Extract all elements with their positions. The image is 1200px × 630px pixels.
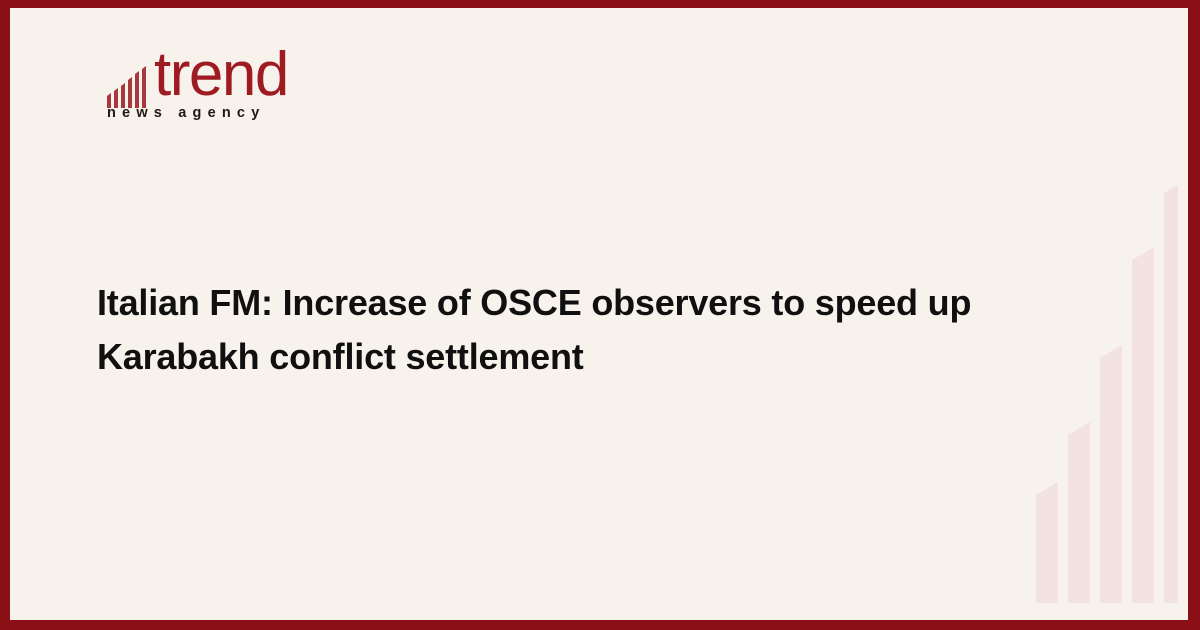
deco-bar-1	[1036, 482, 1058, 603]
decorative-ascending-bars	[1026, 8, 1178, 603]
deco-bar-5	[1164, 185, 1178, 603]
headline: Italian FM: Increase of OSCE observers t…	[97, 276, 1027, 384]
headline-line-1: Italian FM: Increase of OSCE observers t…	[97, 276, 1027, 330]
deco-bar-4	[1132, 247, 1154, 603]
share-card: trend news agency Italian FM: Increase o…	[0, 0, 1200, 630]
deco-bar-2	[1068, 422, 1090, 603]
headline-line-2: Karabakh conflict settlement	[97, 330, 1027, 384]
logo-wordmark: trend	[154, 44, 288, 106]
logo-subtitle: news agency	[107, 104, 265, 122]
trend-news-agency-logo: trend news agency	[97, 46, 357, 138]
deco-bar-3	[1100, 345, 1122, 603]
